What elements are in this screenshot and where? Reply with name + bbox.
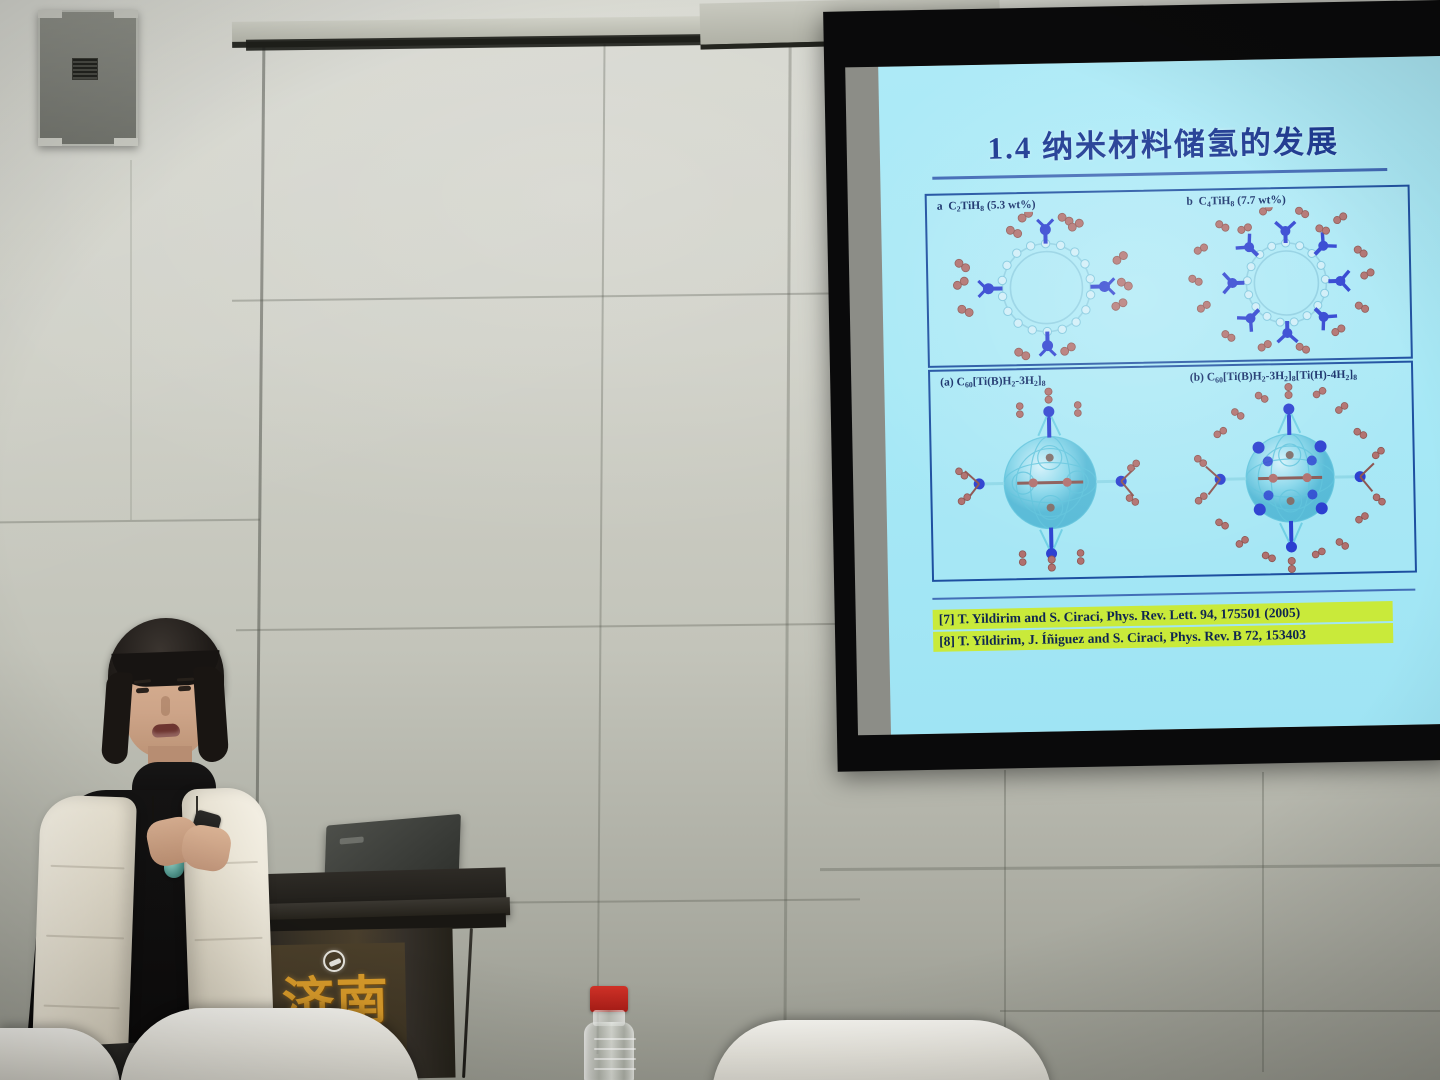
vest-seam-3 (44, 1005, 120, 1010)
bottle-rib-1 (594, 1038, 636, 1040)
fullerene-ti16-diagram (1189, 381, 1393, 575)
laptop-logo (340, 836, 364, 844)
upper-figure-panel: a C2TiH8 (5.3 wt%) b C4TiH8 (7.7 wt%) (925, 185, 1413, 368)
bottle-cap-red (590, 986, 628, 1012)
wall-speaker-box (38, 10, 138, 146)
chair-right (712, 1020, 1052, 1080)
nanotube-sparse-ti-diagram (950, 210, 1143, 366)
presenter-eye-right (178, 686, 191, 692)
vest-seam-2 (46, 935, 124, 940)
vest-seam-1 (50, 865, 124, 870)
presenter-hair-left (101, 671, 133, 765)
bottle-rib-2 (594, 1048, 636, 1050)
references-rule (932, 589, 1415, 600)
bottle-rib-3 (594, 1058, 636, 1060)
projection-screen-surface: 1.4 纳米材料储氢的发展 a C2TiH8 (5.3 wt%) b C4TiH… (845, 56, 1440, 735)
slide-title: 1.4 纳米材料储氢的发展 (883, 114, 1440, 170)
projection-screen-frame: 1.4 纳米材料储氢的发展 a C2TiH8 (5.3 wt%) b C4TiH… (823, 0, 1440, 772)
water-bottle[interactable] (578, 986, 640, 1080)
lower-figure-panel: (a) C60[Ti(B)H2-3H2]8 (b) C60[Ti(B)H2-3H… (928, 361, 1417, 582)
wall-joint-vertical-6 (130, 160, 132, 520)
ti-site-top (1037, 220, 1053, 244)
lecture-hall-photo: 1.4 纳米材料储氢的发展 a C2TiH8 (5.3 wt%) b C4TiH… (0, 0, 1440, 1080)
lower-figure-row (930, 381, 1415, 580)
ti-sites-dense (1222, 221, 1350, 343)
institution-logo-icon (323, 950, 345, 972)
speaker-bracket-bottom-left (38, 138, 62, 146)
fullerene-ti8-diagram (953, 386, 1147, 580)
speaker-bracket-top-left (38, 10, 62, 18)
bottle-rib-4 (594, 1068, 636, 1070)
wall-joint-horizontal-6 (1000, 1010, 1440, 1012)
nanotube-dense-ti-diagram (1185, 205, 1388, 361)
wall-joint-vertical-4 (1004, 770, 1006, 1070)
wall-joint-vertical-5 (1262, 772, 1264, 1072)
bottle-body (584, 1022, 634, 1080)
vest-seam-5 (195, 937, 263, 941)
ti-site-bottom (1039, 332, 1055, 356)
presenter-eye-left (136, 688, 149, 694)
upper-figure-row (927, 205, 1411, 366)
projected-slide: 1.4 纳米材料储氢的发展 a C2TiH8 (5.3 wt%) b C4TiH… (878, 56, 1440, 735)
title-underline (932, 168, 1387, 180)
speaker-bracket-top-right (114, 10, 138, 18)
references-block: [7] T. Yildirim and S. Ciraci, Phys. Rev… (932, 589, 1416, 652)
presenter-mouth (152, 723, 181, 737)
speaker-grille (72, 58, 98, 80)
speaker-bracket-bottom-right (114, 138, 138, 146)
presenter-nose (161, 696, 170, 716)
